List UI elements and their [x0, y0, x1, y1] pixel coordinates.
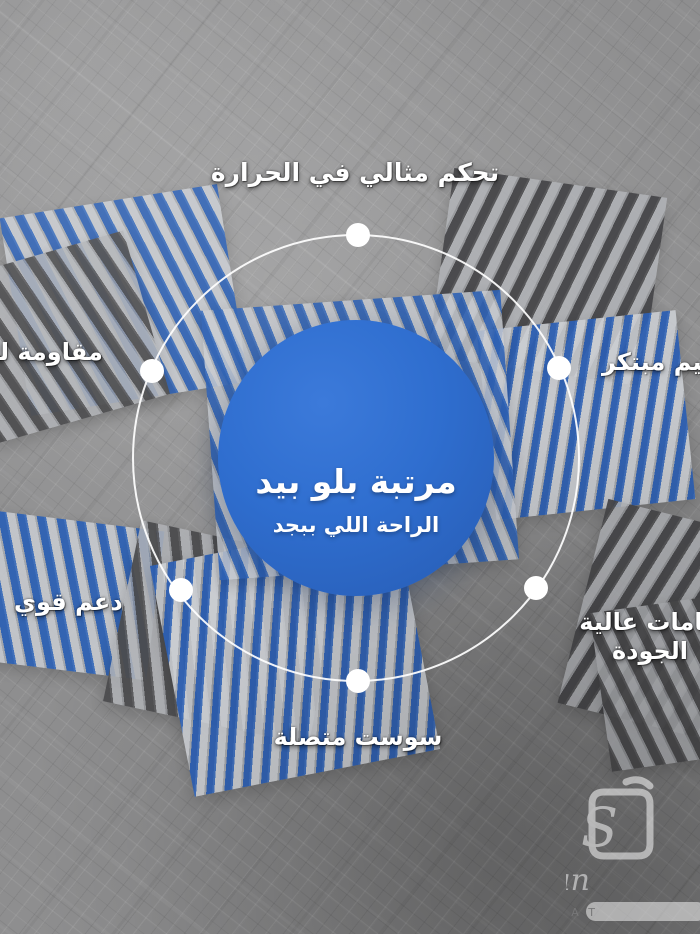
brand-watermark-logo: S an M A T — [566, 774, 700, 924]
node-bottom[interactable] — [346, 669, 370, 693]
feature-label-resistance: مقاومة للـ — [0, 338, 103, 367]
logo-pill — [586, 902, 700, 921]
feature-label-temperature-control: تحكم مثالي في الحرارة — [200, 158, 510, 189]
feature-label-line-2: الجودة — [560, 637, 700, 666]
node-top[interactable] — [346, 223, 370, 247]
feature-label-innovative-design: تصميم مبتكر — [602, 348, 700, 377]
logo-script-text: an — [566, 863, 590, 898]
feature-label-high-quality-materials: خامات عالية الجودة — [560, 608, 700, 667]
feature-label-strong-support: دعم قوي — [14, 588, 123, 617]
feature-label-line-1: خامات عالية — [560, 608, 700, 637]
node-left-top[interactable] — [140, 359, 164, 383]
node-left-bottom[interactable] — [169, 578, 193, 602]
feature-label-connected-springs: سوست متصلة — [258, 723, 458, 752]
infographic-canvas: مرتبة بلو بيد الراحة اللي ببجد تحكم مثال… — [0, 0, 700, 934]
logo-mark-letter: S — [581, 796, 618, 859]
node-right-bottom[interactable] — [524, 576, 548, 600]
logo-pill-text: M A T — [566, 906, 598, 919]
node-right-top[interactable] — [547, 356, 571, 380]
